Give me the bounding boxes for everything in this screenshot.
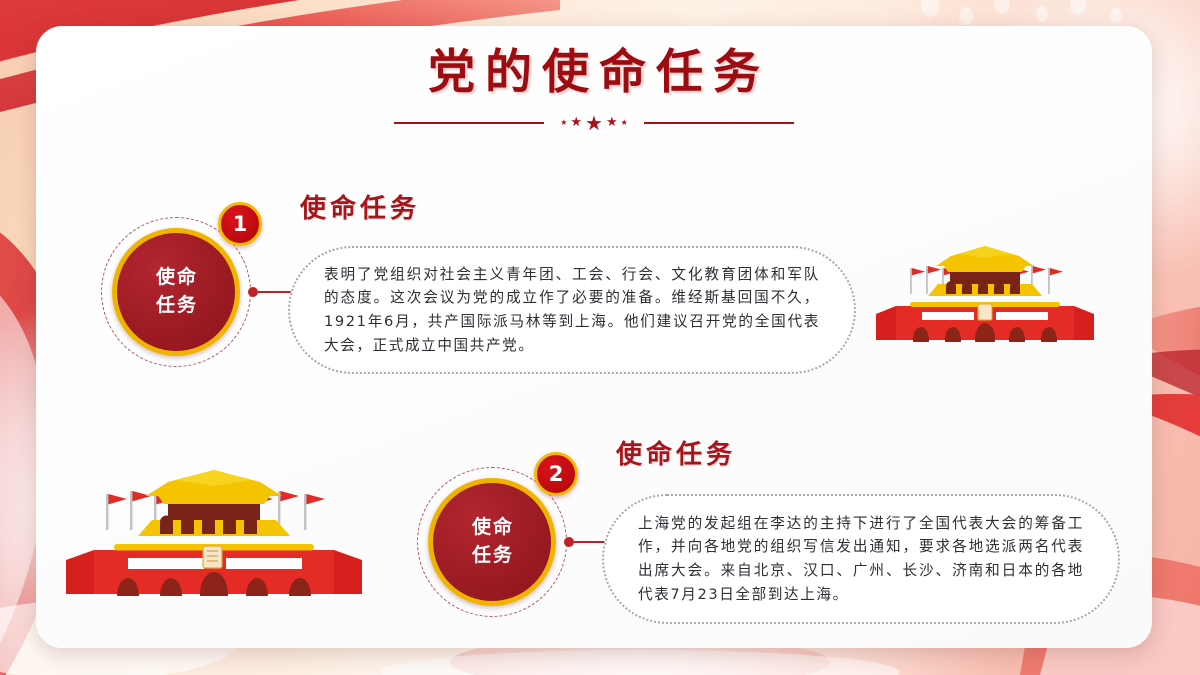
- divider-rule-right: [644, 122, 794, 124]
- section-2-heading: 使命任务: [612, 434, 736, 471]
- star-divider: ★ ★ ★ ★ ★: [36, 113, 1152, 133]
- hub-disc: 使命 任务: [428, 478, 556, 606]
- hub-label-line1: 使命: [154, 264, 198, 292]
- divider-stars-icon: ★ ★ ★ ★ ★: [544, 113, 644, 133]
- star-icon: ★: [585, 113, 603, 133]
- section-1-body-text: 表明了党组织对社会主义青年团、工会、行会、文化教育团体和军队的态度。这次会议为党…: [290, 263, 854, 358]
- connector-dot-start: [248, 287, 258, 297]
- section-1-hub[interactable]: 使命 任务 1: [112, 228, 240, 356]
- title-block: 党的使命任务 ★ ★ ★ ★ ★: [36, 44, 1152, 133]
- connector-dot-start: [564, 537, 574, 547]
- hub-label-line1: 使命: [470, 514, 514, 542]
- tiananmen-gate-large-icon: [64, 464, 364, 596]
- hub-label-line2: 任务: [470, 542, 514, 570]
- tiananmen-gate-small-icon: [874, 242, 1096, 342]
- star-icon: ★: [606, 116, 618, 129]
- content-card: 党的使命任务 ★ ★ ★ ★ ★ 使命 任务: [36, 26, 1152, 648]
- section-1-heading: 使命任务: [296, 188, 420, 225]
- section-1-bubble: 表明了党组织对社会主义青年团、工会、行会、文化教育团体和军队的态度。这次会议为党…: [288, 246, 856, 374]
- hub-disc: 使命 任务: [112, 228, 240, 356]
- section-row-2: 使命 任务 2 使命任务 上海党的发起组在李达的主持下进行了全国代表大会的筹备工…: [36, 416, 1152, 646]
- hub-label-line2: 任务: [154, 292, 198, 320]
- page-title: 党的使命任务: [36, 44, 1152, 103]
- divider-rule-left: [394, 122, 544, 124]
- section-2-hub[interactable]: 使命 任务 2: [428, 478, 556, 606]
- star-icon: ★: [621, 119, 628, 127]
- section-2-bubble: 上海党的发起组在李达的主持下进行了全国代表大会的筹备工作，并向各地党的组织写信发…: [602, 494, 1120, 624]
- star-icon: ★: [560, 119, 567, 127]
- slide-root: 党的使命任务 ★ ★ ★ ★ ★ 使命 任务: [0, 0, 1200, 675]
- section-2-body-text: 上海党的发起组在李达的主持下进行了全国代表大会的筹备工作，并向各地党的组织写信发…: [604, 512, 1118, 607]
- star-icon: ★: [570, 116, 582, 129]
- section-1-number-badge: 1: [218, 202, 262, 246]
- section-row-1: 使命 任务 1 使命任务 表明了党组织对社会主义青年团、工会、行会、文化教育团体…: [36, 176, 1152, 406]
- section-2-number-badge: 2: [534, 452, 578, 496]
